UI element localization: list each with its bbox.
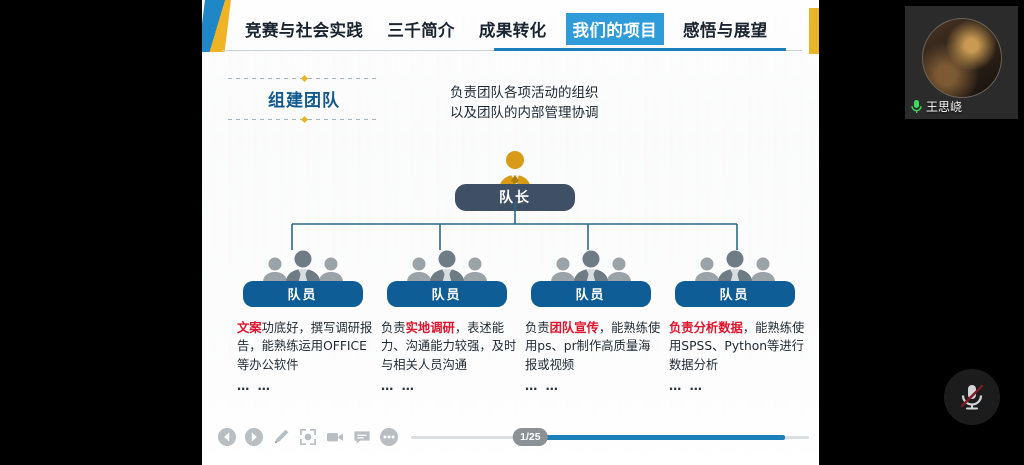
member-badge: 队员 xyxy=(675,281,795,307)
people-group-icon xyxy=(399,250,495,282)
people-group-icon xyxy=(687,250,783,282)
slide-tab-bar: 竞赛与社会实践 三千简介 成果转化 我们的项目 感悟与展望 xyxy=(202,12,819,46)
player-control-group xyxy=(202,427,399,448)
slide-progress-track[interactable]: 1/25 xyxy=(411,436,809,439)
page-indicator: 1/25 xyxy=(513,428,547,446)
member-header: 队员 xyxy=(675,250,795,307)
section-heading-text: 组建团队 xyxy=(228,79,380,119)
member-header: 队员 xyxy=(243,250,363,307)
tab-reflection-outlook[interactable]: 感悟与展望 xyxy=(678,14,773,44)
screen-share-viewer: 竞赛与社会实践 三千简介 成果转化 我们的项目 感悟与展望 组建团队 负责团队各… xyxy=(0,0,1024,465)
people-group-icon xyxy=(543,250,639,282)
tab-intro[interactable]: 三千简介 xyxy=(382,14,460,44)
tab-active-underline xyxy=(494,48,786,51)
participant-video-tile[interactable]: 王思峣 xyxy=(905,6,1018,119)
chat-button[interactable] xyxy=(351,427,372,448)
member-header: 队员 xyxy=(387,250,507,307)
member-column: 队员 文案功底好，撰写调研报告，能熟练运用OFFICE等办公软件 … … xyxy=(232,250,376,396)
member-column: 队员 负责实地调研，表述能力、沟通能力较强，及时与相关人员沟通 … … xyxy=(376,250,520,396)
spotlight-button[interactable] xyxy=(297,427,318,448)
member-description: 文案功底好，撰写调研报告，能熟练运用OFFICE等办公软件 … … xyxy=(232,319,373,396)
arrow-left-circle-icon xyxy=(217,427,237,447)
captain-description: 负责团队各项活动的组织以及团队的内部管理协调 xyxy=(450,84,610,123)
participant-name-row: 王思峣 xyxy=(910,98,962,115)
avatar xyxy=(922,18,1002,98)
member-badge: 队员 xyxy=(387,281,507,307)
pencil-icon xyxy=(271,427,291,447)
presentation-slide: 竞赛与社会实践 三千简介 成果转化 我们的项目 感悟与展望 组建团队 负责团队各… xyxy=(202,0,819,465)
member-badge: 队员 xyxy=(531,281,651,307)
people-group-icon xyxy=(255,250,351,282)
member-description: 负责实地调研，表述能力、沟通能力较强，及时与相关人员沟通 … … xyxy=(376,319,517,396)
annotate-button[interactable] xyxy=(270,427,291,448)
member-ellipsis: … … xyxy=(237,377,373,395)
member-header: 队员 xyxy=(531,250,651,307)
tab-competition-practice[interactable]: 竞赛与社会实践 xyxy=(240,14,368,44)
self-mute-button[interactable] xyxy=(944,369,1000,425)
participant-name: 王思峣 xyxy=(926,98,962,115)
member-ellipsis: … … xyxy=(381,377,517,395)
video-camera-icon xyxy=(325,427,345,447)
member-highlight: 实地调研 xyxy=(406,321,455,335)
focus-frame-icon xyxy=(298,427,318,447)
tab-our-project[interactable]: 我们的项目 xyxy=(566,13,665,45)
member-highlight: 负责分析数据 xyxy=(669,321,743,335)
member-highlight: 文案 xyxy=(237,321,262,335)
member-description: 负责团队宣传，能熟练使用ps、pr制作高质量海报或视频 … … xyxy=(520,319,661,396)
heading-dashed-rule-bottom xyxy=(228,119,380,120)
heading-dashed-rule-top xyxy=(228,78,380,79)
member-ellipsis: … … xyxy=(669,377,805,395)
member-columns: 队员 文案功底好，撰写调研报告，能熟练运用OFFICE等办公软件 … … xyxy=(202,250,819,396)
member-description: 负责分析数据，能熟练使用SPSS、Python等进行数据分析 … … xyxy=(664,319,805,396)
member-text-lead: 负责 xyxy=(381,321,406,335)
ellipsis-circle-icon xyxy=(379,427,399,447)
next-slide-button[interactable] xyxy=(243,427,264,448)
member-badge: 队员 xyxy=(243,281,363,307)
chat-bubble-icon xyxy=(352,427,372,447)
section-heading: 组建团队 xyxy=(228,78,380,120)
video-button[interactable] xyxy=(324,427,345,448)
microphone-muted-icon xyxy=(957,381,987,413)
org-connector-lines xyxy=(202,202,819,252)
member-column: 队员 负责分析数据，能熟练使用SPSS、Python等进行数据分析 … … xyxy=(664,250,808,396)
member-highlight: 团队宣传 xyxy=(550,321,599,335)
slide-progress-fill xyxy=(538,435,785,440)
tab-outcomes[interactable]: 成果转化 xyxy=(474,14,552,44)
prev-slide-button[interactable] xyxy=(216,427,237,448)
member-column: 队员 负责团队宣传，能熟练使用ps、pr制作高质量海报或视频 … … xyxy=(520,250,664,396)
microphone-icon xyxy=(910,99,923,114)
more-button[interactable] xyxy=(378,427,399,448)
arrow-right-circle-icon xyxy=(244,427,264,447)
member-text-lead: 负责 xyxy=(525,321,550,335)
slide-player-toolbar: 1/25 xyxy=(202,423,819,451)
org-chart: 队长 xyxy=(202,150,819,410)
member-ellipsis: … … xyxy=(525,377,661,395)
